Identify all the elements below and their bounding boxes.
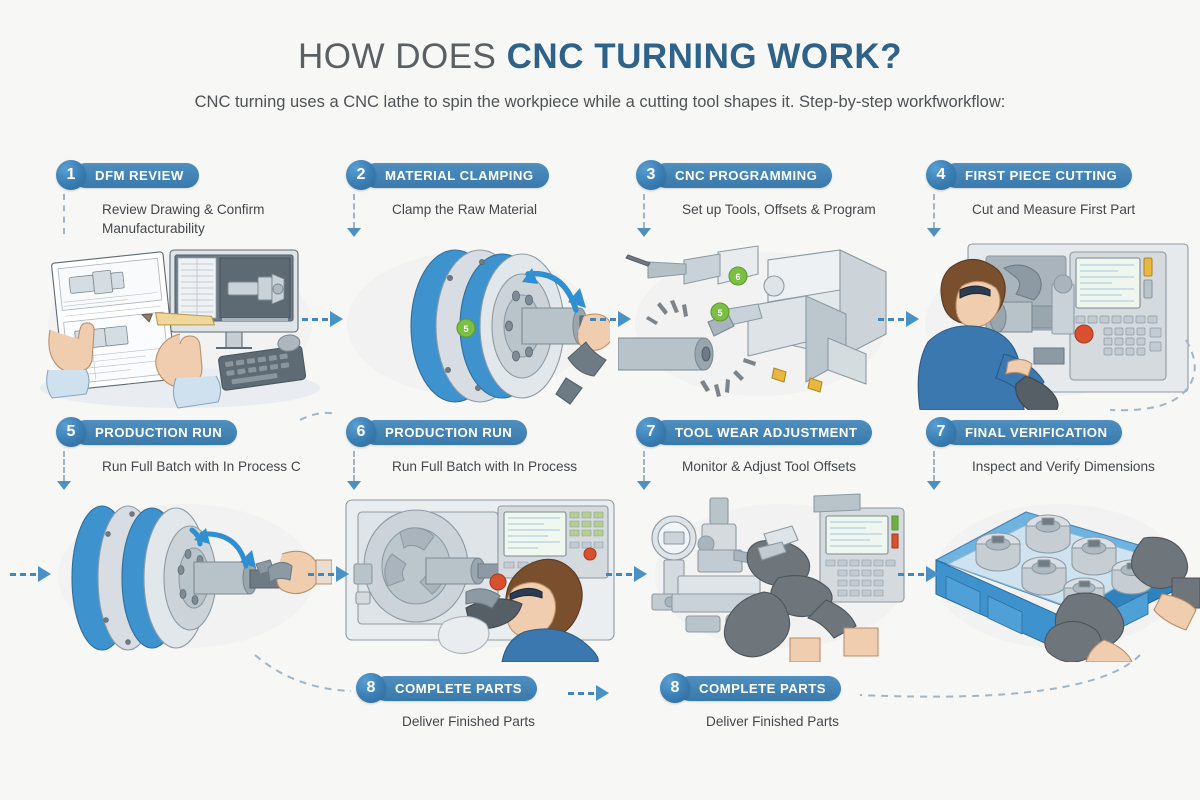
step-badge-2: 2 MATERIAL CLAMPING [346, 160, 620, 190]
title-plain-part: HOW DOES [298, 37, 507, 76]
step-number-bottom-1: 8 [356, 673, 386, 703]
step-number-3: 3 [636, 160, 666, 190]
flow-arrow-5-to-6 [308, 567, 349, 581]
step-card-1[interactable]: 1 DFM REVIEW Review Drawing & Confirm Ma… [48, 160, 330, 239]
step-card-bottom-2[interactable]: 8 COMPLETE PARTS Deliver Finished Parts [660, 673, 841, 731]
connector-dash-2 [353, 194, 355, 228]
flow-arrow-2-to-3 [590, 312, 631, 326]
svg-text:5: 5 [717, 308, 722, 318]
illustration-final-verification [918, 490, 1200, 662]
page-header: HOW DOES CNC TURNING WORK? CNC turning u… [0, 0, 1200, 112]
step-description-8: Inspect and Verify Dimensions [972, 457, 1197, 476]
step-label-8: FINAL VERIFICATION [943, 420, 1122, 445]
illustration-cnc-programming: 6 5 [618, 238, 903, 410]
connector-dash-7 [643, 451, 645, 481]
step-description-4: Cut and Measure First Part [972, 200, 1197, 219]
step-card-7[interactable]: 7 TOOL WEAR ADJUSTMENT Monitor & Adjust … [628, 417, 910, 476]
step-label-6: PRODUCTION RUN [363, 420, 527, 445]
illustration-dfm-review [30, 238, 330, 410]
connector-dash-8 [933, 451, 935, 481]
step-number-6: 6 [346, 417, 376, 447]
step-badge-7: 7 TOOL WEAR ADJUSTMENT [636, 417, 910, 447]
flow-arrow-bottom-1-to-2 [568, 686, 609, 700]
svg-text:5: 5 [463, 324, 468, 334]
step-description-3: Set up Tools, Offsets & Program [682, 200, 907, 219]
connector-arrow-2 [347, 228, 361, 237]
step-badge-6: 6 PRODUCTION RUN [346, 417, 620, 447]
step-label-3: CNC PROGRAMMING [653, 163, 832, 188]
connector-arrow-6 [347, 481, 361, 490]
step-badge-1: 1 DFM REVIEW [56, 160, 330, 190]
step-label-2: MATERIAL CLAMPING [363, 163, 549, 188]
step-number-8: 7 [926, 417, 956, 447]
illustration-production-run-machinist [338, 490, 623, 662]
connector-dash-6 [353, 451, 355, 481]
page-subtitle: CNC turning uses a CNC lathe to spin the… [0, 93, 1200, 112]
connector-arrow-5 [57, 481, 71, 490]
step-badge-5: 5 PRODUCTION RUN [56, 417, 330, 447]
connector-arrow-7 [637, 481, 651, 490]
step-badge-8: 7 FINAL VERIFICATION [926, 417, 1200, 447]
step-label-bottom-1: COMPLETE PARTS [373, 676, 537, 701]
step-description-1: Review Drawing & Confirm Manufacturabili… [102, 200, 327, 239]
connector-arrow-8 [927, 481, 941, 490]
flow-arrow-3-to-4 [878, 312, 919, 326]
step-card-6[interactable]: 6 PRODUCTION RUN Run Full Batch with In … [338, 417, 620, 476]
steps-row-1: 1 DFM REVIEW Review Drawing & Confirm Ma… [0, 160, 1200, 239]
step-badge-3: 3 CNC PROGRAMMING [636, 160, 910, 190]
step-label-bottom-2: COMPLETE PARTS [677, 676, 841, 701]
connector-dash-1 [63, 194, 65, 234]
page-title: HOW DOES CNC TURNING WORK? [0, 38, 1200, 77]
step-label-1: DFM REVIEW [73, 163, 199, 188]
steps-row-2: 5 PRODUCTION RUN Run Full Batch with In … [0, 417, 1200, 476]
step-label-4: FIRST PIECE CUTTING [943, 163, 1132, 188]
step-description-6: Run Full Batch with In Process [392, 457, 617, 476]
illustration-material-clamping: 5 [330, 238, 610, 410]
step-badge-bottom-2: 8 COMPLETE PARTS [660, 673, 841, 703]
connector-arrow-4 [927, 228, 941, 237]
step-card-3[interactable]: 3 CNC PROGRAMMING Set up Tools, Offsets … [628, 160, 910, 239]
svg-text:6: 6 [735, 272, 740, 282]
step-number-1: 1 [56, 160, 86, 190]
flow-arrow-into-5 [10, 567, 51, 581]
step-description-bottom-1: Deliver Finished Parts [402, 712, 537, 731]
connector-dash-3 [643, 194, 645, 228]
connector-dash-5 [63, 451, 65, 481]
flow-arrow-6-to-7 [606, 567, 647, 581]
step-card-4[interactable]: 4 FIRST PIECE CUTTING Cut and Measure Fi… [918, 160, 1200, 239]
step-number-2: 2 [346, 160, 376, 190]
step-label-5: PRODUCTION RUN [73, 420, 237, 445]
step-card-8[interactable]: 7 FINAL VERIFICATION Inspect and Verify … [918, 417, 1200, 476]
step-description-bottom-2: Deliver Finished Parts [706, 712, 841, 731]
illustration-first-piece-cutting [908, 238, 1193, 410]
title-accent-part: CNC TURNING WORK? [507, 37, 902, 76]
connector-dash-4 [933, 194, 935, 228]
flow-arrow-7-to-8 [898, 567, 939, 581]
step-description-2: Clamp the Raw Material [392, 200, 617, 219]
step-label-7: TOOL WEAR ADJUSTMENT [653, 420, 872, 445]
step-card-2[interactable]: 2 MATERIAL CLAMPING Clamp the Raw Materi… [338, 160, 620, 239]
step-card-5[interactable]: 5 PRODUCTION RUN Run Full Batch with In … [48, 417, 330, 476]
illustration-production-run-chuck [40, 490, 332, 662]
step-description-7: Monitor & Adjust Tool Offsets [682, 457, 907, 476]
illustration-tool-wear-adjustment [638, 490, 923, 662]
step-number-4: 4 [926, 160, 956, 190]
connector-arrow-3 [637, 228, 651, 237]
flow-arrow-1-to-2 [302, 312, 343, 326]
step-badge-4: 4 FIRST PIECE CUTTING [926, 160, 1200, 190]
step-badge-bottom-1: 8 COMPLETE PARTS [356, 673, 537, 703]
step-card-bottom-1[interactable]: 8 COMPLETE PARTS Deliver Finished Parts [356, 673, 537, 731]
step-number-bottom-2: 8 [660, 673, 690, 703]
step-description-5: Run Full Batch with In Process C [102, 457, 327, 476]
step-number-5: 5 [56, 417, 86, 447]
step-number-7: 7 [636, 417, 666, 447]
